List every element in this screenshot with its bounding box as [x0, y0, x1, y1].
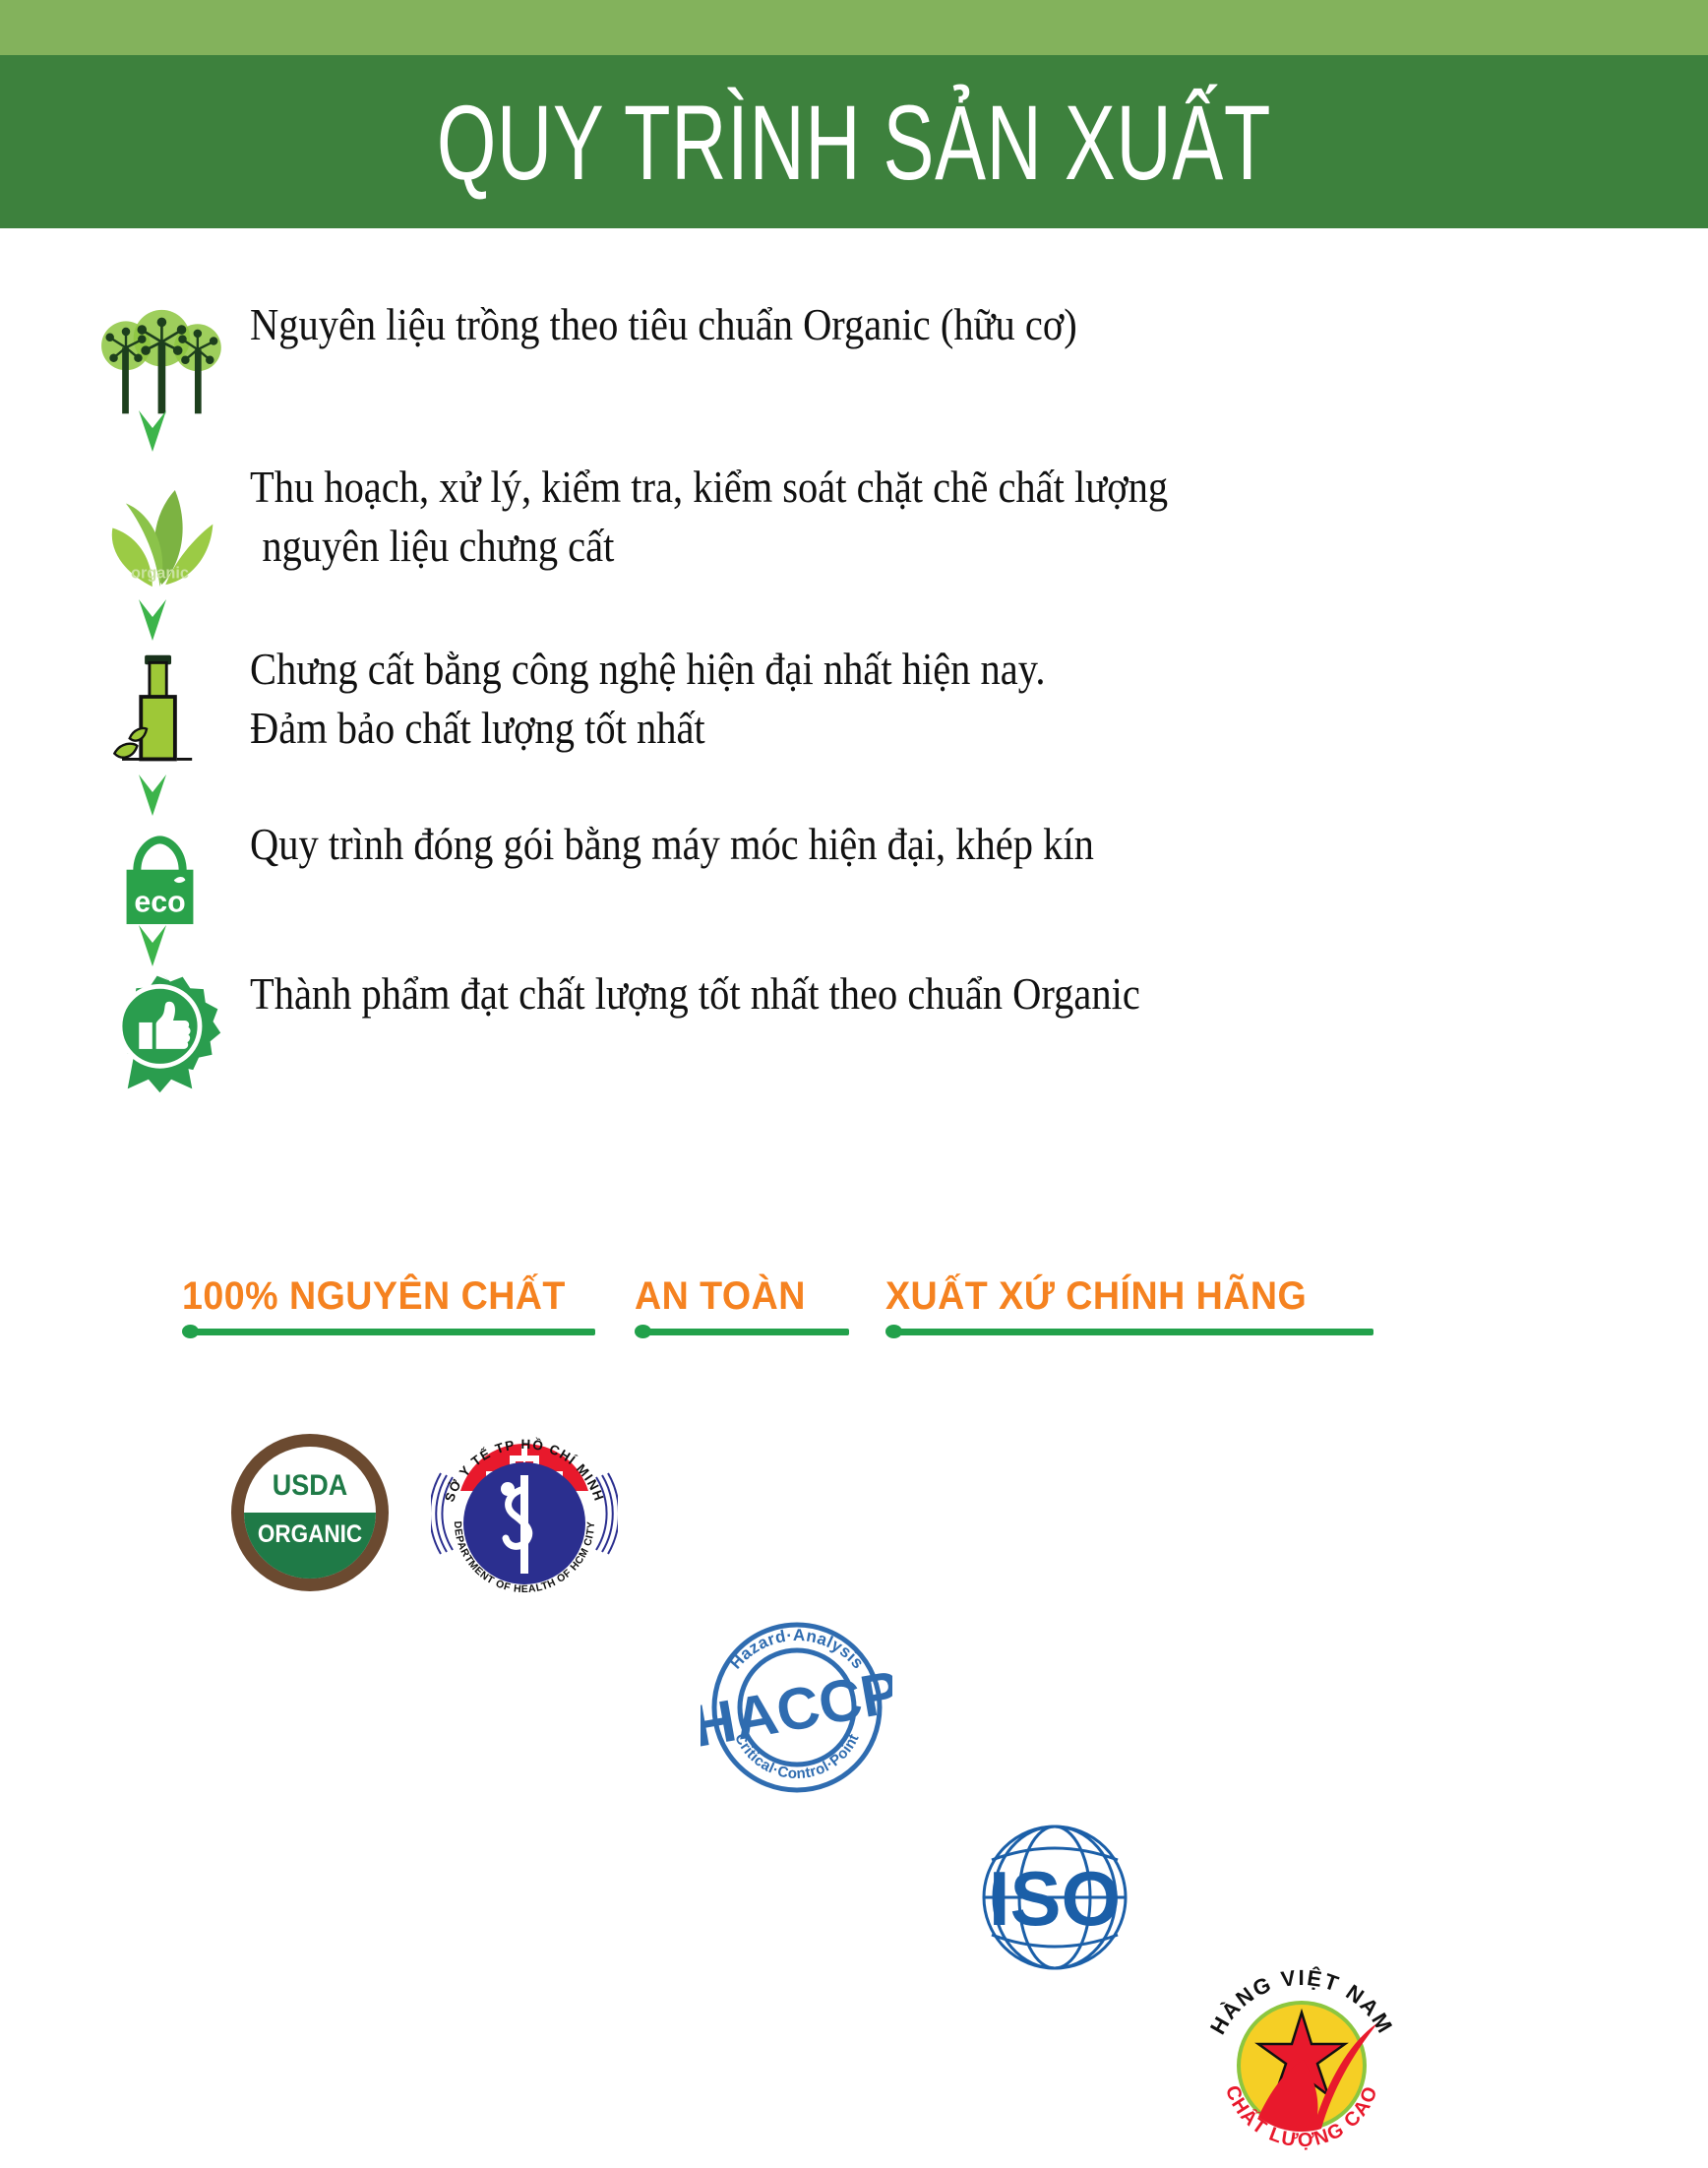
tagline-2: AN TOÀN — [635, 1274, 846, 1338]
tagline-1-rule — [182, 1325, 595, 1338]
process-step-3: Chưng cất bằng công nghệ hiện đại nhất h… — [91, 640, 1154, 777]
department-of-health-hcmc-logo: SỞ Y TẾ TP HỒ CHÍ MINH DEPARTMENT OF HEA… — [431, 1420, 618, 1607]
quality-badge-thumbs-up-icon — [91, 964, 228, 1102]
process-step-2-text: Thu hoạch, xử lý, kiểm tra, kiểm soát ch… — [250, 458, 1168, 576]
iso-center-text: ISO — [989, 1855, 1121, 1942]
process-step-5-text: Thành phẩm đạt chất lượng tốt nhất theo … — [250, 964, 1140, 1023]
iso-logo: ISO — [959, 1817, 1151, 1979]
usda-line1: USDA — [251, 1469, 370, 1503]
rule-line — [642, 1329, 849, 1335]
eco-bag-label: eco — [134, 887, 185, 919]
down-arrow-icon — [136, 408, 169, 460]
tagline-row: 100% NGUYÊN CHẤT AN TOÀN XUẤT XỨ CHÍNH H… — [0, 1274, 1708, 1383]
usda-line2: ORGANIC — [251, 1520, 370, 1549]
step-line: Thu hoạch, xử lý, kiểm tra, kiểm soát ch… — [250, 462, 1168, 512]
infographic-page: QUY TRÌNH SẢN XUẤT — [0, 0, 1708, 1697]
tagline-2-label: AN TOÀN — [635, 1274, 833, 1319]
process-step-2: organic Thu hoạch, xử lý, kiểm tra, kiểm… — [91, 458, 1293, 595]
tagline-3: XUẤT XỨ CHÍNH HÃNG — [885, 1274, 1368, 1338]
certification-logos: USDA ORGANIC — [0, 1402, 1708, 1668]
page-title: QUY TRÌNH SẢN XUẤT — [239, 55, 1469, 228]
rule-line — [893, 1329, 1373, 1335]
header-accent-band — [0, 0, 1708, 55]
process-step-1: Nguyên liệu trồng theo tiêu chuẩn Organi… — [91, 295, 1189, 433]
tagline-1: 100% NGUYÊN CHẤT — [182, 1274, 595, 1338]
process-step-3-text: Chưng cất bằng công nghệ hiện đại nhất h… — [250, 640, 1045, 758]
step-line: Nguyên liệu trồng theo tiêu chuẩn Organi… — [250, 299, 1077, 349]
haccp-center-text: HACCP — [701, 1658, 892, 1760]
process-step-4-text: Quy trình đóng gói bằng máy móc hiện đại… — [250, 815, 1094, 874]
organic-leaves-icon: organic — [91, 458, 228, 595]
process-step-1-text: Nguyên liệu trồng theo tiêu chuẩn Organi… — [250, 295, 1077, 354]
rule-line — [190, 1329, 595, 1335]
hang-viet-nam-chat-luong-cao-logo: HÀNG VIỆT NAM CHẤT LƯỢNG CAO — [1195, 1961, 1407, 2163]
organic-leaves-label: organic — [131, 564, 189, 582]
tagline-1-label: 100% NGUYÊN CHẤT — [182, 1274, 571, 1319]
process-step-4: eco Quy trình đóng gói bằng máy móc hiện… — [91, 815, 1209, 953]
step-line: Thành phẩm đạt chất lượng tốt nhất theo … — [250, 968, 1140, 1019]
step-line: nguyên liệu chưng cất — [250, 517, 1168, 576]
step-line: Đảm bảo chất lượng tốt nhất — [250, 699, 1045, 758]
step-line: Chưng cất bằng công nghệ hiện đại nhất h… — [250, 644, 1045, 694]
oil-bottle-icon — [91, 640, 228, 777]
tagline-3-rule — [885, 1325, 1368, 1338]
step-line: Quy trình đóng gói bằng máy móc hiện đại… — [250, 819, 1094, 869]
process-step-5: Thành phẩm đạt chất lượng tốt nhất theo … — [91, 964, 1261, 1102]
usda-organic-logo: USDA ORGANIC — [231, 1434, 389, 1591]
tagline-3-label: XUẤT XỨ CHÍNH HÃNG — [885, 1274, 1339, 1319]
haccp-logo: HACCP Hazard·Analysis Critical·Control·P… — [701, 1609, 892, 1801]
tagline-2-rule — [635, 1325, 846, 1338]
